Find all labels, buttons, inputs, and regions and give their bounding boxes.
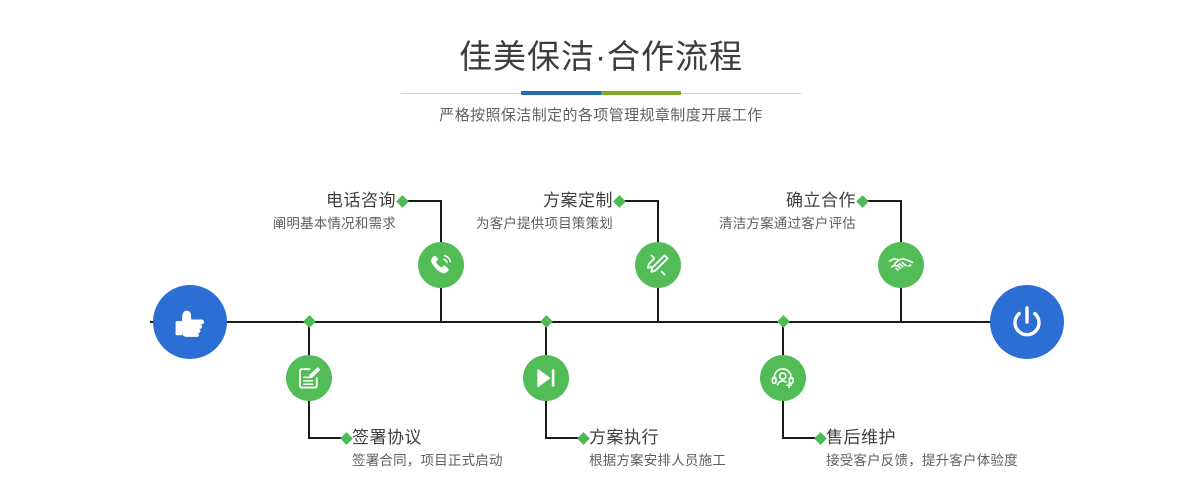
step-icon-1[interactable] <box>418 242 464 288</box>
axis-marker-1 <box>303 315 316 328</box>
step-title-6: 售后维护 <box>826 428 896 447</box>
play-skip-icon <box>532 364 560 392</box>
step-title-5: 确立合作 <box>0 190 856 212</box>
label-marker-4 <box>577 432 590 445</box>
step-subtitle-2: 签署合同，项目正式启动 <box>352 451 503 471</box>
step-subtitle-4: 根据方案安排人员施工 <box>589 451 726 471</box>
step-icon-6[interactable] <box>760 355 806 401</box>
flow-diagram-page: 佳美保洁·合作流程 严格按照保洁制定的各项管理规章制度开展工作 <box>0 0 1202 502</box>
step-subtitle-6: 接受客户反馈，提升客户体验度 <box>826 451 1018 471</box>
step-icon-4[interactable] <box>523 355 569 401</box>
document-edit-icon <box>295 364 323 392</box>
step-title-2: 签署协议 <box>352 428 422 447</box>
step-label-6: 售后维护 接受客户反馈，提升客户体验度 <box>826 427 1018 471</box>
step-icon-5[interactable] <box>878 242 924 288</box>
step-label-4: 方案执行 根据方案安排人员施工 <box>589 427 726 471</box>
label-marker-2 <box>340 432 353 445</box>
step-subtitle-5: 清洁方案通过客户评估 <box>0 214 856 234</box>
timeline-end-node[interactable] <box>990 285 1064 359</box>
label-marker-6 <box>814 432 827 445</box>
step-icon-3[interactable] <box>635 242 681 288</box>
pencil-design-icon <box>644 251 672 279</box>
label-marker-5 <box>856 195 869 208</box>
step-label-2: 签署协议 签署合同，项目正式启动 <box>352 427 503 471</box>
power-button-icon <box>1006 301 1048 343</box>
pointing-hand-icon <box>169 301 211 343</box>
axis-marker-3 <box>540 315 553 328</box>
timeline-start-node[interactable] <box>153 285 227 359</box>
step-label-5: 确立合作 清洁方案通过客户评估 <box>0 190 856 234</box>
step-icon-2[interactable] <box>286 355 332 401</box>
timeline-axis <box>150 321 1052 323</box>
headset-support-icon <box>769 364 797 392</box>
handshake-icon <box>887 251 915 279</box>
phone-ringing-icon <box>427 251 455 279</box>
axis-marker-5 <box>777 315 790 328</box>
process-timeline: 电话咨询 阐明基本情况和需求 签署协议 签署合同，项目正式启动 <box>0 0 1202 502</box>
step-title-4: 方案执行 <box>589 428 659 447</box>
